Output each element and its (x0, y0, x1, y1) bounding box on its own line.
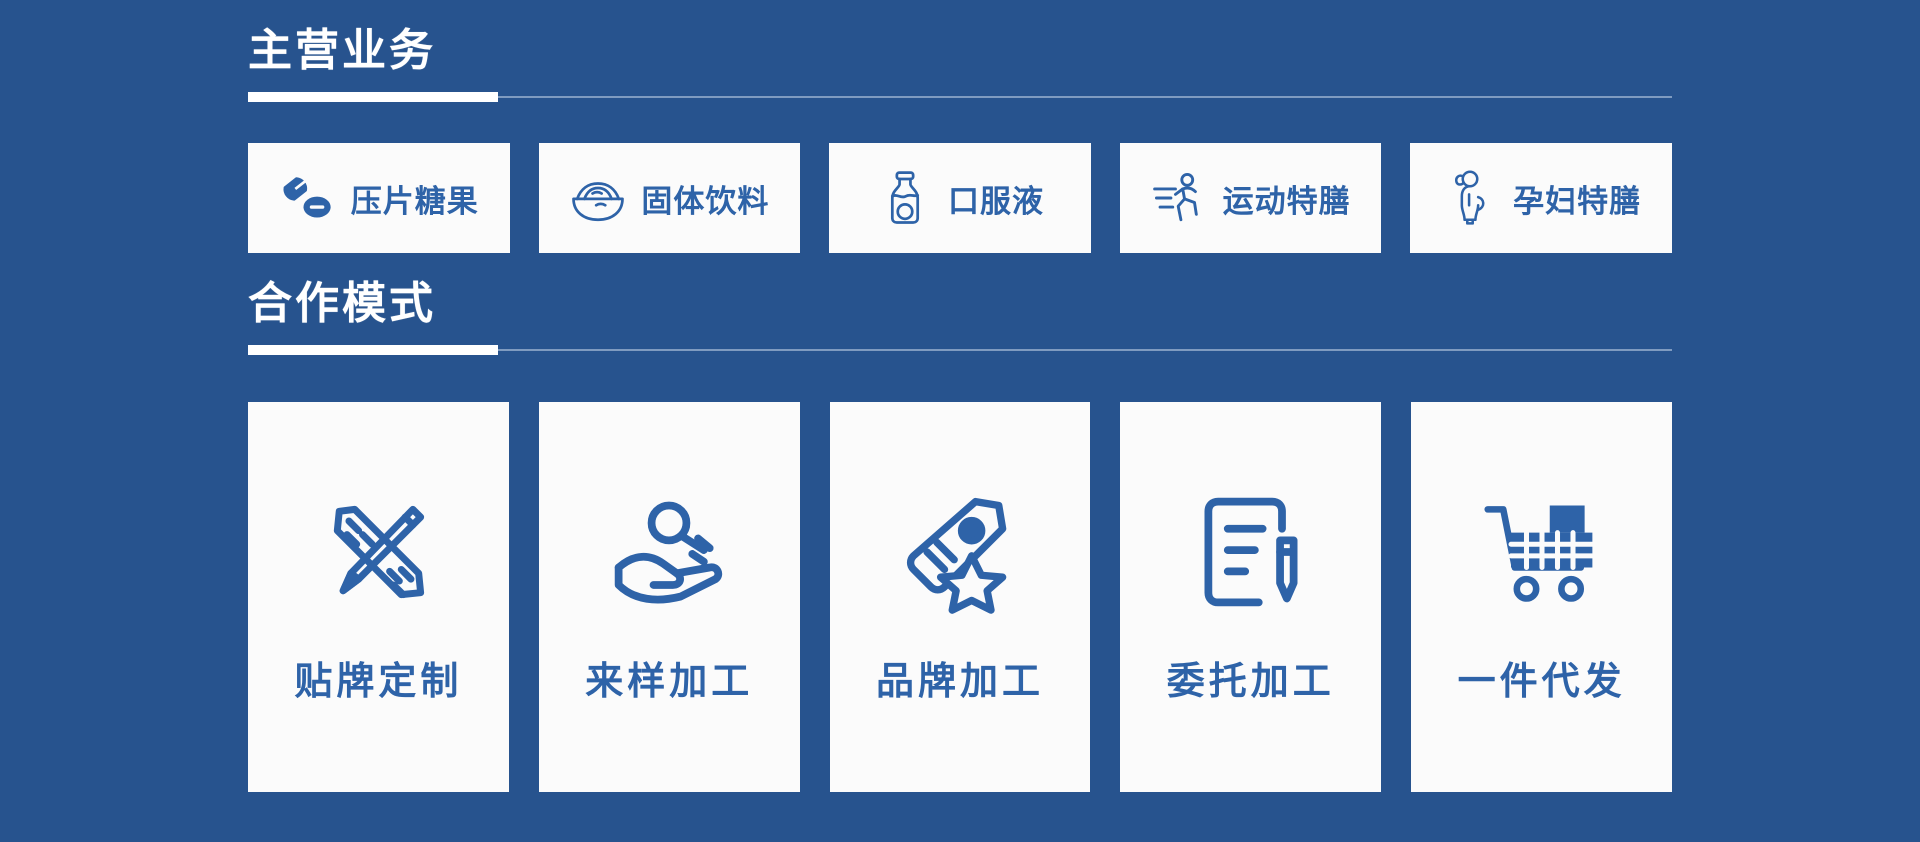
section-heading-main-business: 主营业务 (248, 28, 1672, 102)
heading-rule-thick (248, 92, 498, 102)
business-card-row: 压片糖果 固体饮料 (248, 143, 1672, 253)
section-title: 合作模式 (248, 281, 1672, 327)
cooperation-card-label: 来样加工 (585, 650, 753, 705)
business-card-label: 压片糖果 (351, 176, 479, 221)
pregnant-woman-icon (1441, 169, 1499, 227)
section-title: 主营业务 (248, 28, 1672, 74)
section-heading-cooperation-mode: 合作模式 (248, 281, 1672, 355)
business-card-label: 固体饮料 (641, 176, 769, 221)
running-person-icon (1151, 169, 1209, 227)
cooperation-card-label: 委托加工 (1167, 650, 1335, 705)
cooperation-card-label: 一件代发 (1458, 650, 1626, 705)
shopping-cart-icon (1480, 490, 1604, 614)
heading-rule-thick (248, 345, 498, 355)
pencil-ruler-icon (316, 490, 440, 614)
business-card-capsule[interactable]: 压片糖果 (248, 143, 510, 253)
capsule-pill-icon (279, 169, 337, 227)
cooperation-card-oem[interactable]: 贴牌定制 (248, 402, 509, 792)
business-card-oral-liquid[interactable]: 口服液 (829, 143, 1091, 253)
business-card-maternity-diet[interactable]: 孕妇特膳 (1410, 143, 1672, 253)
cooperation-card-label: 品牌加工 (876, 650, 1044, 705)
cooperation-card-entrust[interactable]: 委托加工 (1120, 402, 1381, 792)
tag-star-icon (898, 490, 1022, 614)
business-card-label: 运动特膳 (1223, 176, 1351, 221)
business-card-sport-diet[interactable]: 运动特膳 (1120, 143, 1382, 253)
hand-sample-icon (607, 490, 731, 614)
cooperation-card-row: 贴牌定制 来样加工 (248, 402, 1672, 792)
cooperation-card-label: 贴牌定制 (294, 650, 462, 705)
bottle-icon (876, 169, 934, 227)
document-pen-icon (1189, 490, 1313, 614)
powder-bowl-icon (569, 169, 627, 227)
promo-banner: 主营业务 压片糖果 (0, 0, 1920, 842)
business-card-powder[interactable]: 固体饮料 (539, 143, 801, 253)
cooperation-card-brand[interactable]: 品牌加工 (830, 402, 1091, 792)
business-card-label: 孕妇特膳 (1513, 176, 1641, 221)
cooperation-card-sample[interactable]: 来样加工 (539, 402, 800, 792)
business-card-label: 口服液 (948, 176, 1044, 221)
cooperation-card-dropship[interactable]: 一件代发 (1411, 402, 1672, 792)
heading-rule (248, 345, 1672, 355)
heading-rule (248, 92, 1672, 102)
